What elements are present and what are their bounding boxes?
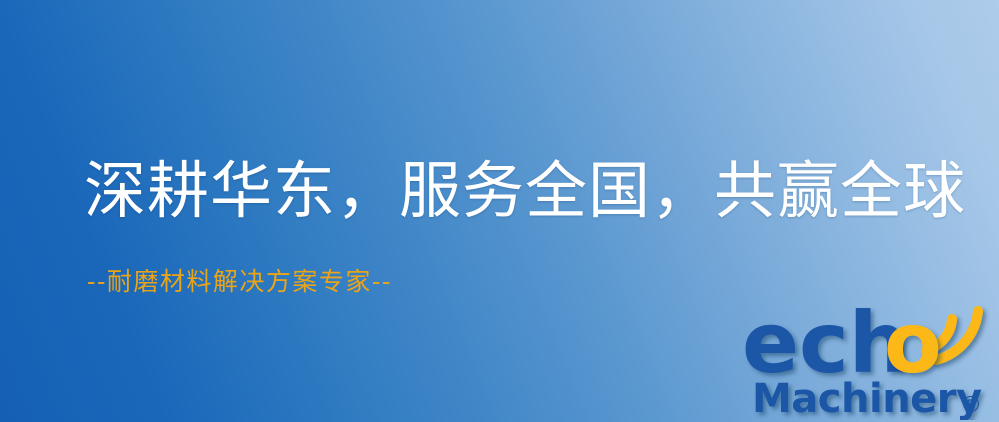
logo-trademark: ® (960, 393, 982, 418)
brand-logo[interactable]: ech o Machinery ® (744, 288, 996, 420)
page-subtitle: --耐磨材料解决方案专家-- (87, 266, 392, 298)
logo-tagline: Machinery (752, 376, 982, 420)
page-title: 深耕华东，服务全国，共赢全球 (84, 155, 966, 227)
hero-banner: 深耕华东，服务全国，共赢全球 --耐磨材料解决方案专家-- ech o Mach… (0, 0, 999, 422)
